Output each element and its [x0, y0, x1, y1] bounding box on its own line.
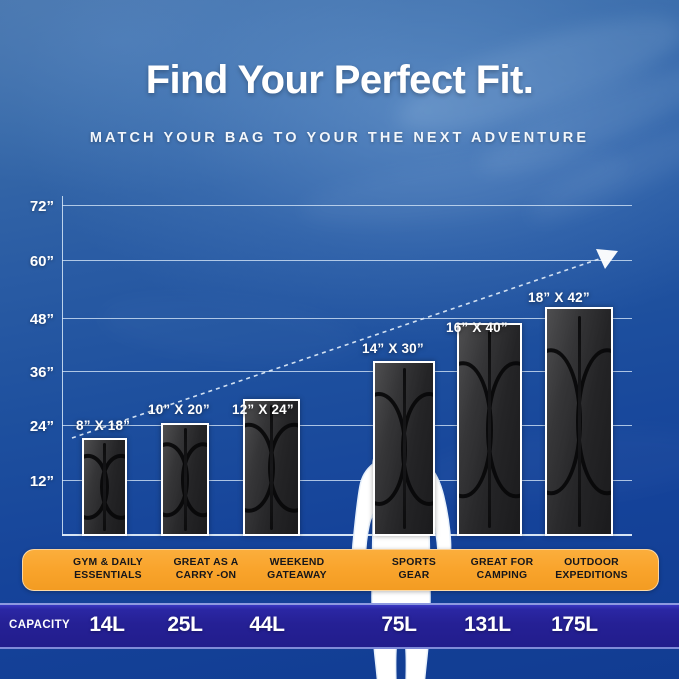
- bag-bar-6[interactable]: [545, 307, 613, 536]
- use-case-3[interactable]: WEEKEND GATEAWAY: [237, 557, 357, 582]
- bag-bar-5[interactable]: [457, 323, 522, 536]
- bag-zipper: [184, 428, 187, 530]
- use-case-1-line1: GYM & DAILY: [48, 557, 168, 570]
- bag-zipper: [578, 316, 581, 528]
- y-tick-36: 36”: [4, 364, 54, 381]
- capacity-value-2: 25L: [140, 613, 230, 637]
- capacity-value-1: 14L: [62, 613, 152, 637]
- y-tick-24: 24”: [4, 418, 54, 435]
- y-tick-60: 60”: [4, 253, 54, 270]
- bag-label-2: 10” X 20”: [148, 402, 210, 417]
- infographic-canvas: Find Your Perfect Fit. MATCH YOUR BAG TO…: [0, 0, 679, 679]
- page-title: Find Your Perfect Fit.: [0, 58, 679, 103]
- use-case-6-line1: OUTDOOR: [534, 557, 649, 570]
- bag-label-4: 14” X 30”: [362, 341, 424, 356]
- capacity-value-3: 44L: [222, 613, 312, 637]
- use-case-strip: GYM & DAILY ESSENTIALS GREAT AS A CARRY …: [22, 549, 659, 591]
- bag-zipper: [103, 443, 106, 531]
- y-tick-12: 12”: [4, 473, 54, 490]
- use-case-1-line2: ESSENTIALS: [48, 570, 168, 583]
- bag-zipper: [488, 331, 491, 527]
- y-tick-48: 48”: [4, 311, 54, 328]
- use-case-1[interactable]: GYM & DAILY ESSENTIALS: [48, 557, 168, 582]
- bag-label-5: 16” X 40”: [446, 320, 508, 335]
- bag-zipper: [403, 368, 406, 529]
- bag-bar-4[interactable]: [373, 361, 435, 536]
- capacity-value-6: 175L: [527, 613, 622, 637]
- y-tick-72: 72”: [4, 198, 54, 215]
- bag-label-1: 8” X 18”: [76, 418, 130, 433]
- bag-label-3: 12” X 24”: [232, 402, 294, 417]
- capacity-value-5: 131L: [440, 613, 535, 637]
- capacity-label: CAPACITY: [9, 619, 70, 631]
- bag-label-6: 18” X 42”: [528, 290, 590, 305]
- use-case-6[interactable]: OUTDOOR EXPEDITIONS: [534, 557, 649, 582]
- bag-bar-3[interactable]: [243, 399, 300, 536]
- chart-plot-area: 72” 60” 48” 36” 24” 12” 8” X 18” 10”: [62, 196, 632, 536]
- use-case-3-line2: GATEAWAY: [237, 570, 357, 583]
- bag-zipper: [270, 405, 273, 530]
- page-subtitle: MATCH YOUR BAG TO YOUR THE NEXT ADVENTUR…: [0, 130, 679, 146]
- capacity-band: CAPACITY 14L 25L 44L 75L 131L 175L: [0, 603, 679, 649]
- bag-bar-2[interactable]: [161, 423, 209, 536]
- bag-bar-1[interactable]: [82, 438, 127, 536]
- capacity-value-4: 75L: [354, 613, 444, 637]
- use-case-6-line2: EXPEDITIONS: [534, 570, 649, 583]
- use-case-3-line1: WEEKEND: [237, 557, 357, 570]
